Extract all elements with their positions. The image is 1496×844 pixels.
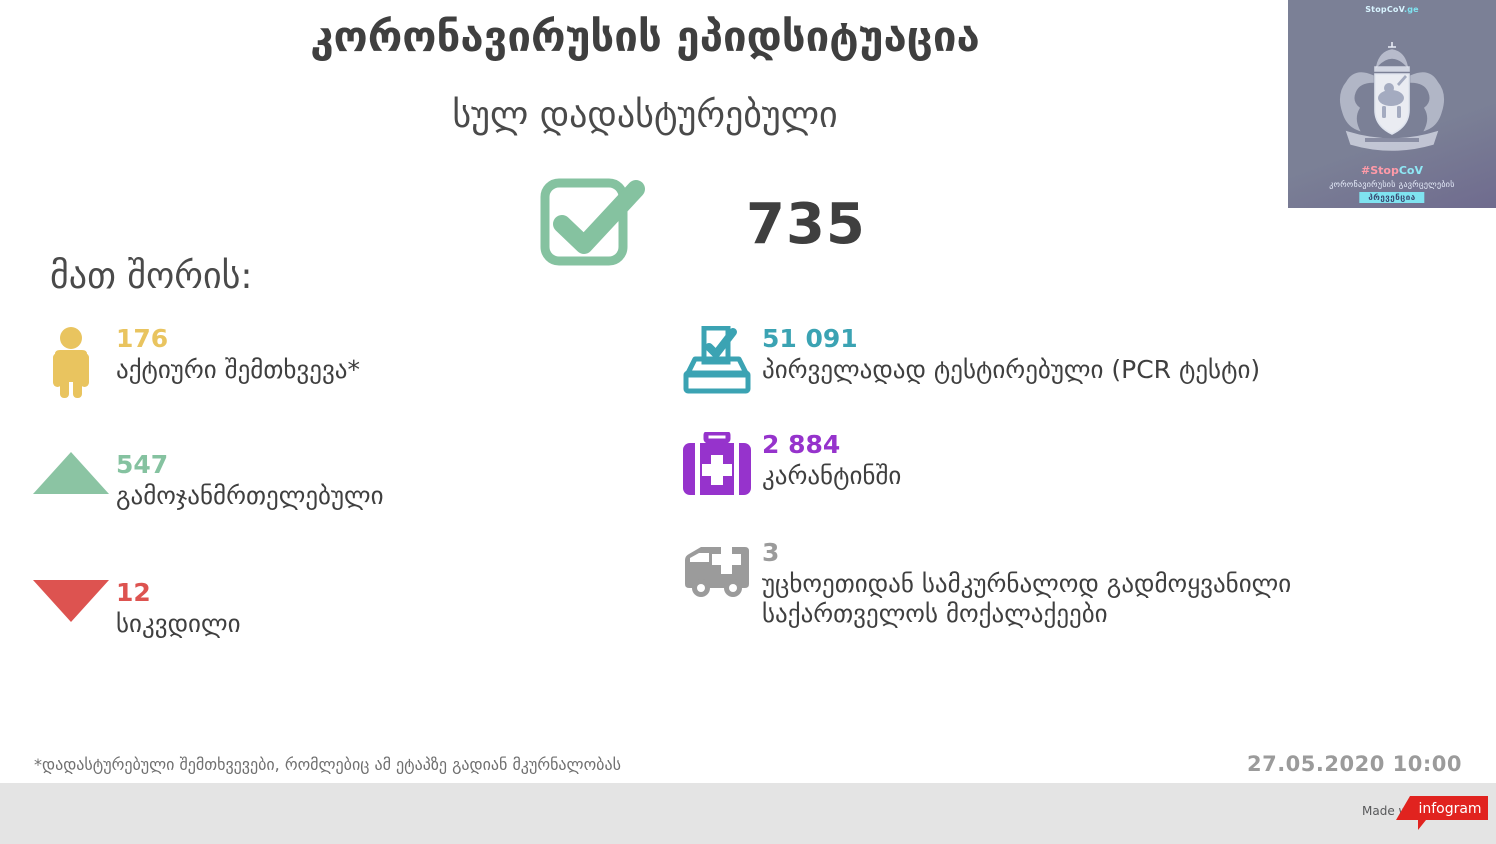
stat-quarantine-text: 2 884 კარანტინში bbox=[754, 432, 901, 491]
stat-first-tested-value: 51 091 bbox=[762, 326, 1260, 351]
stat-deaths-value: 12 bbox=[116, 580, 241, 605]
stat-active-value: 176 bbox=[116, 326, 360, 351]
infographic-page: კორონავირუსის ეპიდსიტუაცია სულ დადასტურე… bbox=[0, 0, 1496, 844]
triangle-down-icon bbox=[33, 580, 109, 622]
triangle-up-icon bbox=[33, 452, 109, 494]
stat-repatriated-value: 3 bbox=[762, 540, 1291, 565]
footer-bar: Made with infogram bbox=[0, 783, 1496, 844]
stat-repatriated-text: 3 უცხოეთიდან სამკურნალოდ გადმოყვანილი სა… bbox=[754, 540, 1291, 628]
ambulance-icon bbox=[681, 540, 753, 600]
stat-deaths-text: 12 სიკვდილი bbox=[108, 580, 241, 639]
stat-recovered-label: გამოჯანმრთელებული bbox=[116, 481, 384, 511]
triangle-up-icon-wrap bbox=[34, 452, 108, 494]
stat-recovered-text: 547 გამოჯანმრთელებული bbox=[108, 452, 384, 511]
infogram-logo-icon[interactable]: infogram bbox=[1396, 794, 1488, 830]
infogram-wordmark: infogram bbox=[1418, 801, 1481, 817]
stat-first-tested-text: 51 091 პირველადად ტესტირებული (PCR ტესტი… bbox=[754, 326, 1260, 385]
stat-deaths-label: სიკვდილი bbox=[116, 609, 241, 639]
stopcov-hashtag: #StopCoV bbox=[1288, 164, 1496, 177]
logo-prevention-badge: პრევენცია bbox=[1359, 192, 1424, 203]
page-subtitle: სულ დადასტურებული bbox=[0, 96, 1290, 136]
triangle-down-icon-wrap bbox=[34, 580, 108, 622]
stat-repatriated: 3 უცხოეთიდან სამკურნალოდ გადმოყვანილი სა… bbox=[680, 540, 1291, 628]
logo-georgian-line: კორონავირუსის გავრცელების bbox=[1288, 180, 1496, 189]
medical-kit-icon bbox=[682, 432, 752, 496]
footnote-text: *დადასტურებული შემთხვევები, რომლებიც ამ … bbox=[34, 755, 621, 774]
stopcov-url-label: StopCoV.ge bbox=[1288, 5, 1496, 14]
ambulance-icon-wrap bbox=[680, 540, 754, 600]
stat-active-label: აქტიური შემთხვევა* bbox=[116, 355, 360, 385]
person-icon-wrap bbox=[34, 326, 108, 398]
stopcov-logo-card: StopCoV.ge bbox=[1288, 0, 1496, 208]
ballot-box-check-icon bbox=[681, 326, 753, 394]
hashtag-cov: CoV bbox=[1399, 164, 1423, 177]
stat-quarantine: 2 884 კარანტინში bbox=[680, 432, 901, 496]
stopcov-url-text: StopCoV bbox=[1365, 5, 1404, 14]
stat-first-tested: 51 091 პირველადად ტესტირებული (PCR ტესტი… bbox=[680, 326, 1260, 394]
stat-quarantine-label: კარანტინში bbox=[762, 461, 901, 491]
stat-active-text: 176 აქტიური შემთხვევა* bbox=[108, 326, 360, 385]
checkbox-check-icon bbox=[540, 176, 646, 272]
total-confirmed-value: 735 bbox=[746, 192, 866, 257]
page-title: კორონავირუსის ეპიდსიტუაცია bbox=[0, 14, 1290, 60]
stat-repatriated-label: უცხოეთიდან სამკურნალოდ გადმოყვანილი საქა… bbox=[762, 569, 1291, 628]
stat-active-cases: 176 აქტიური შემთხვევა* bbox=[34, 326, 360, 398]
among-them-label: მათ შორის: bbox=[50, 256, 253, 297]
stat-first-tested-label: პირველადად ტესტირებული (PCR ტესტი) bbox=[762, 355, 1260, 385]
ballot-box-check-icon-wrap bbox=[680, 326, 754, 394]
georgia-coat-of-arms-icon bbox=[1317, 36, 1467, 158]
stat-quarantine-value: 2 884 bbox=[762, 432, 901, 457]
hashtag-symbol: # bbox=[1361, 164, 1370, 177]
stopcov-url-suffix: .ge bbox=[1404, 5, 1419, 14]
stat-deaths: 12 სიკვდილი bbox=[34, 580, 241, 639]
total-confirmed-block: 735 bbox=[540, 176, 866, 272]
timestamp-label: 27.05.2020 10:00 bbox=[1247, 752, 1462, 776]
hashtag-stop: Stop bbox=[1370, 164, 1399, 177]
stat-recovered: 547 გამოჯანმრთელებული bbox=[34, 452, 384, 511]
medical-kit-icon-wrap bbox=[680, 432, 754, 496]
stat-recovered-value: 547 bbox=[116, 452, 384, 477]
person-icon bbox=[47, 326, 95, 398]
